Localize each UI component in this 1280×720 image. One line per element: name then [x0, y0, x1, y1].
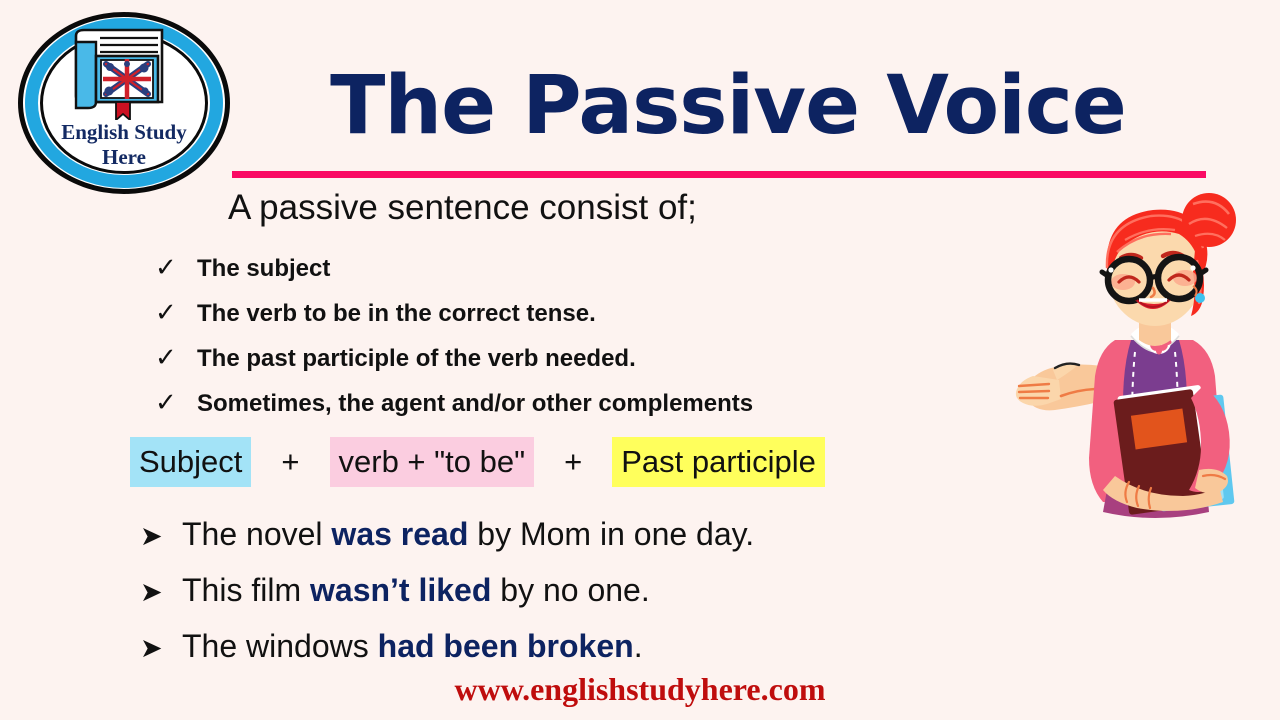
example-highlight: wasn’t liked [310, 572, 491, 608]
footer-url: www.englishstudyhere.com [0, 669, 1280, 709]
list-item: ➤ The windows had been broken. [140, 618, 1070, 674]
example-sentence: The windows had been broken. [182, 618, 643, 674]
check-icon: ✓ [155, 381, 197, 426]
example-highlight: had been broken [378, 628, 634, 664]
example-before: The novel [182, 516, 331, 552]
logo-line-2: Here [18, 145, 230, 170]
example-highlight: was read [331, 516, 468, 552]
example-sentence: The novel was read by Mom in one day. [182, 506, 754, 562]
example-list: ➤ The novel was read by Mom in one day. … [140, 506, 1070, 674]
list-item: ✓ The past participle of the verb needed… [155, 336, 1055, 381]
example-after: by Mom in one day. [468, 516, 754, 552]
teacher-head [1102, 193, 1236, 326]
list-item-label: Sometimes, the agent and/or other comple… [197, 381, 753, 426]
infographic-canvas: English Study Here The Passive Voice A p… [0, 0, 1280, 720]
formula-plus-1: + [251, 437, 329, 487]
check-icon: ✓ [155, 291, 197, 336]
logo-line-1: English Study [18, 120, 230, 145]
list-item-label: The verb to be in the correct tense. [197, 291, 596, 336]
example-before: This film [182, 572, 310, 608]
passive-formula: Subject + verb + "to be" + Past particip… [130, 437, 825, 487]
list-item: ✓ Sometimes, the agent and/or other comp… [155, 381, 1055, 426]
intro-text: A passive sentence consist of; [228, 186, 697, 230]
list-item: ✓ The subject [155, 246, 1055, 291]
check-icon: ✓ [155, 246, 197, 291]
formula-chip-subject: Subject [130, 437, 251, 487]
list-item-label: The past participle of the verb needed. [197, 336, 636, 381]
list-item: ➤ The novel was read by Mom in one day. [140, 506, 1070, 562]
arrow-bullet-icon: ➤ [140, 509, 182, 565]
formula-plus-2: + [534, 437, 612, 487]
example-before: The windows [182, 628, 378, 664]
site-logo: English Study Here [18, 12, 240, 204]
formula-chip-past-participle: Past participle [612, 437, 825, 487]
example-after: . [634, 628, 643, 664]
page-title: The Passive Voice [248, 62, 1208, 150]
list-item: ✓ The verb to be in the correct tense. [155, 291, 1055, 336]
example-after: by no one. [491, 572, 649, 608]
logo-wordmark: English Study Here [18, 120, 230, 170]
example-sentence: This film wasn’t liked by no one. [182, 562, 650, 618]
list-item-label: The subject [197, 246, 330, 291]
book-with-uk-flag-icon [70, 28, 180, 120]
list-item: ➤ This film wasn’t liked by no one. [140, 562, 1070, 618]
formula-chip-verb-to-be: verb + "to be" [330, 437, 535, 487]
check-icon: ✓ [155, 336, 197, 381]
title-divider [232, 171, 1206, 178]
teacher-character [1003, 190, 1280, 520]
checklist: ✓ The subject ✓ The verb to be in the co… [155, 246, 1055, 426]
arrow-bullet-icon: ➤ [140, 565, 182, 621]
